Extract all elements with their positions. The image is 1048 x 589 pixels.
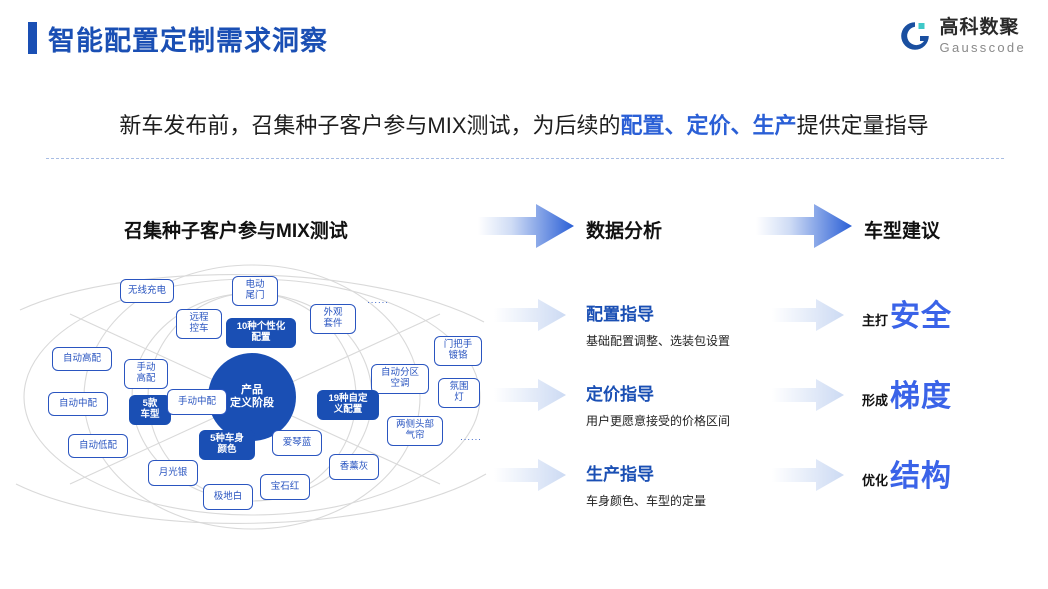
mindmap-diagram: 产品 定义阶段 无线充电电动 尾门......远程 控车10种个性化 配置外观 … [10,252,490,542]
mindmap-node[interactable]: 宝石红 [260,474,310,500]
mindmap-node[interactable]: 自动低配 [68,434,128,458]
recommendation-keyword: 梯度 [890,382,952,412]
subtitle: 新车发布前，召集种子客户参与MIX测试，为后续的配置、定价、生产提供定量指导 [0,108,1048,140]
analysis-arrow-1-icon [494,298,566,332]
mindmap-node[interactable]: 远程 控车 [176,309,222,339]
recommendation-prefix: 主打 [862,310,888,332]
section-divider [46,158,1004,159]
subtitle-highlight: 配置、定价、生产 [621,113,797,138]
column-title-analysis: 数据分析 [586,216,662,243]
mindmap-node[interactable]: 手动中配 [167,389,227,415]
mindmap-node[interactable]: 月光银 [148,460,198,486]
page-title: 智能配置定制需求洞察 [48,19,328,58]
brand-logo: 高科数聚 Gausscode [898,18,1026,54]
logo-name-en: Gausscode [940,41,1026,54]
recommendation-prefix: 形成 [862,390,888,412]
gausscode-logo-icon [898,19,932,53]
analysis-item-1[interactable]: 定价指导 用户更愿意接受的价格区间 [586,380,730,429]
mindmap-node[interactable]: 爱琴蓝 [272,430,322,456]
mindmap-node[interactable]: 自动分区 空调 [371,364,429,394]
analysis-title: 生产指导 [586,460,706,485]
analysis-arrow-3-icon [494,458,566,492]
mindmap-node[interactable]: 外观 套件 [310,304,356,334]
analysis-title: 配置指导 [586,300,730,325]
title-accent-bar [28,22,37,54]
recommendation-keyword: 安全 [890,302,952,332]
analysis-item-2[interactable]: 生产指导 车身颜色、车型的定量 [586,460,706,509]
mindmap-node[interactable]: 极地白 [203,484,253,510]
flow-arrow-2-icon [756,203,852,249]
mindmap-node[interactable]: 电动 尾门 [232,276,278,306]
recommendation-prefix: 优化 [862,470,888,492]
logo-text: 高科数聚 Gausscode [940,18,1026,54]
mindmap-node[interactable]: 香薰灰 [329,454,379,480]
mindmap-node[interactable]: ...... [448,425,494,451]
recommendation-item-1[interactable]: 形成 梯度 [862,382,952,412]
mindmap-node[interactable]: 门把手 镀铬 [434,336,482,366]
recommendation-keyword: 结构 [890,462,952,492]
analysis-arrow-2-icon [494,378,566,412]
mindmap-node[interactable]: ...... [354,288,402,314]
mindmap-node[interactable]: 无线充电 [120,279,174,303]
analysis-title: 定价指导 [586,380,730,405]
slide-header: 智能配置定制需求洞察 高科数聚 Gausscode [0,0,1048,76]
mindmap-node[interactable]: 自动中配 [48,392,108,416]
recommendation-arrow-1-icon [772,298,844,332]
mindmap-node[interactable]: 19种自定 义配置 [317,390,379,420]
recommendation-arrow-3-icon [772,458,844,492]
mindmap-node[interactable]: 两侧头部 气帘 [387,416,443,446]
mindmap-node[interactable]: 氛围 灯 [438,378,480,408]
analysis-description: 基础配置调整、选装包设置 [586,332,730,349]
column-title-recommendation: 车型建议 [864,216,940,243]
column-title-collection: 召集种子客户参与MIX测试 [124,216,348,243]
flow-arrow-1-icon [478,203,574,249]
mindmap-node[interactable]: 自动高配 [52,347,112,371]
mindmap-node[interactable]: 5款 车型 [129,395,171,425]
recommendation-item-2[interactable]: 优化 结构 [862,462,952,492]
analysis-item-0[interactable]: 配置指导 基础配置调整、选装包设置 [586,300,730,349]
subtitle-part1: 新车发布前，召集种子客户参与MIX测试，为后续的 [119,113,620,138]
mindmap-node[interactable]: 手动 高配 [124,359,168,389]
recommendation-item-0[interactable]: 主打 安全 [862,302,952,332]
slide-root: 智能配置定制需求洞察 高科数聚 Gausscode 新车发布前，召集种子客户参与… [0,0,1048,589]
subtitle-part2: 提供定量指导 [797,113,929,138]
mindmap-node[interactable]: 10种个性化 配置 [226,318,296,348]
mindmap-node[interactable]: 5种车身 颜色 [199,430,255,460]
logo-name-cn: 高科数聚 [940,18,1026,37]
recommendation-arrow-2-icon [772,378,844,412]
analysis-description: 车身颜色、车型的定量 [586,492,706,509]
analysis-description: 用户更愿意接受的价格区间 [586,412,730,429]
